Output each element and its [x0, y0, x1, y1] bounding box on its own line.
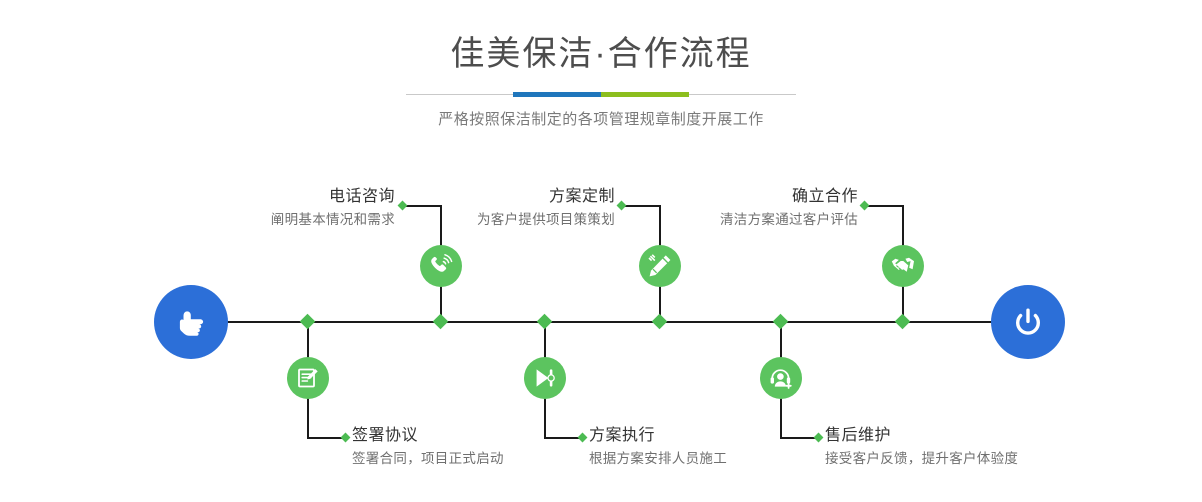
power-icon — [1008, 302, 1048, 342]
step-3-axis-marker — [652, 314, 668, 330]
step-3-label: 方案定制 为客户提供项目策策划 — [405, 186, 615, 230]
step-6-icon-node[interactable] — [760, 357, 802, 399]
step-3-label-marker — [617, 201, 627, 211]
step-6-axis-marker — [773, 314, 789, 330]
play-execute-icon — [532, 365, 558, 391]
step-1-desc: 阐明基本情况和需求 — [190, 210, 395, 230]
step-5-axis-marker — [895, 314, 911, 330]
step-2-label-marker — [341, 433, 351, 443]
step-6-title: 售后维护 — [825, 425, 1155, 447]
step-6-desc: 接受客户反馈，提升客户体验度 — [825, 449, 1155, 469]
step-1-title: 电话咨询 — [190, 186, 395, 208]
pointing-hand-icon — [171, 302, 211, 342]
step-6-label: 售后维护 接受客户反馈，提升客户体验度 — [825, 425, 1155, 469]
step-2-icon-node[interactable] — [287, 357, 329, 399]
step-5-label-marker — [860, 201, 870, 211]
timeline-start-endpoint[interactable] — [154, 285, 228, 359]
phone-call-icon — [428, 253, 454, 279]
step-4-axis-marker — [537, 314, 553, 330]
customer-service-add-icon — [768, 365, 794, 391]
step-4-icon-node[interactable] — [524, 357, 566, 399]
step-5-label: 确立合作 清洁方案通过客户评估 — [645, 186, 858, 230]
step-5-icon-node[interactable] — [882, 245, 924, 287]
timeline-end-endpoint[interactable] — [991, 285, 1065, 359]
step-5-connector-horizontal — [868, 205, 903, 207]
step-3-desc: 为客户提供项目策策划 — [405, 210, 615, 230]
process-timeline: 电话咨询 阐明基本情况和需求 签署协议 签署合同，项目正式启动 — [0, 0, 1202, 502]
step-1-axis-marker — [433, 314, 449, 330]
step-5-title: 确立合作 — [645, 186, 858, 208]
document-edit-icon — [295, 365, 321, 391]
step-1-icon-node[interactable] — [420, 245, 462, 287]
step-3-title: 方案定制 — [405, 186, 615, 208]
step-1-label: 电话咨询 阐明基本情况和需求 — [190, 186, 395, 230]
pencil-ruler-icon — [647, 253, 673, 279]
handshake-icon — [890, 253, 916, 279]
step-3-icon-node[interactable] — [639, 245, 681, 287]
step-2-axis-marker — [300, 314, 316, 330]
flow-diagram-page: 佳美保洁·合作流程 严格按照保洁制定的各项管理规章制度开展工作 — [0, 0, 1202, 502]
step-5-desc: 清洁方案通过客户评估 — [645, 210, 858, 230]
